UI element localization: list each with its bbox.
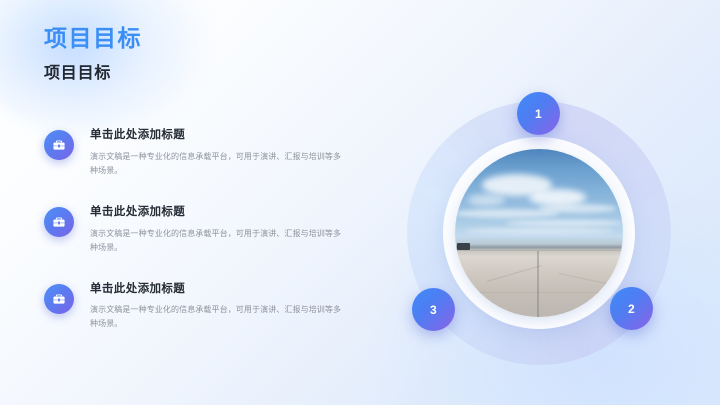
list-item[interactable]: 单击此处添加标题 演示文稿是一种专业化的信息承载平台，可用于演讲、汇报与培训等多…	[44, 282, 364, 332]
list-item[interactable]: 单击此处添加标题 演示文稿是一种专业化的信息承载平台，可用于演讲、汇报与培训等多…	[44, 205, 364, 255]
list-item-title: 单击此处添加标题	[90, 129, 348, 143]
briefcase-icon	[44, 130, 74, 160]
diagram-marker-1[interactable]: 1	[517, 92, 560, 135]
diagram-marker-label: 1	[535, 107, 542, 121]
slide-canvas: 项目目标 项目目标 单击此处添加标题 演示文稿是一种专业化的信息承载平台，可用于…	[0, 0, 720, 405]
list-item-title: 单击此处添加标题	[90, 206, 348, 220]
list-item-text: 单击此处添加标题 演示文稿是一种专业化的信息承载平台，可用于演讲、汇报与培训等多…	[90, 205, 348, 255]
diagram-marker-label: 2	[628, 302, 635, 316]
list-item-title: 单击此处添加标题	[90, 283, 348, 297]
list-item-text: 单击此处添加标题 演示文稿是一种专业化的信息承载平台，可用于演讲、汇报与培训等多…	[90, 128, 348, 178]
bullet-list: 单击此处添加标题 演示文稿是一种专业化的信息承载平台，可用于演讲、汇报与培训等多…	[44, 128, 364, 331]
page-title-accent: 项目目标	[44, 26, 142, 50]
slide-header: 项目目标 项目目标	[44, 26, 142, 83]
diagram-marker-2[interactable]: 2	[610, 287, 653, 330]
list-item-text: 单击此处添加标题 演示文稿是一种专业化的信息承载平台，可用于演讲、汇报与培训等多…	[90, 282, 348, 332]
list-item[interactable]: 单击此处添加标题 演示文稿是一种专业化的信息承载平台，可用于演讲、汇报与培训等多…	[44, 128, 364, 178]
briefcase-icon	[44, 207, 74, 237]
list-item-body: 演示文稿是一种专业化的信息承载平台，可用于演讲、汇报与培训等多种场景。	[90, 227, 348, 255]
diagram-marker-3[interactable]: 3	[412, 288, 455, 331]
list-item-body: 演示文稿是一种专业化的信息承载平台，可用于演讲、汇报与培训等多种场景。	[90, 303, 348, 331]
briefcase-icon	[44, 284, 74, 314]
page-title: 项目目标	[44, 66, 142, 83]
horizon-structure	[457, 243, 470, 250]
diagram-center-photo	[455, 149, 623, 317]
circular-diagram: 1 2 3	[398, 92, 680, 374]
list-item-body: 演示文稿是一种专业化的信息承载平台，可用于演讲、汇报与培训等多种场景。	[90, 150, 348, 178]
plaza-sky-photo	[455, 149, 623, 317]
diagram-marker-label: 3	[430, 303, 437, 317]
